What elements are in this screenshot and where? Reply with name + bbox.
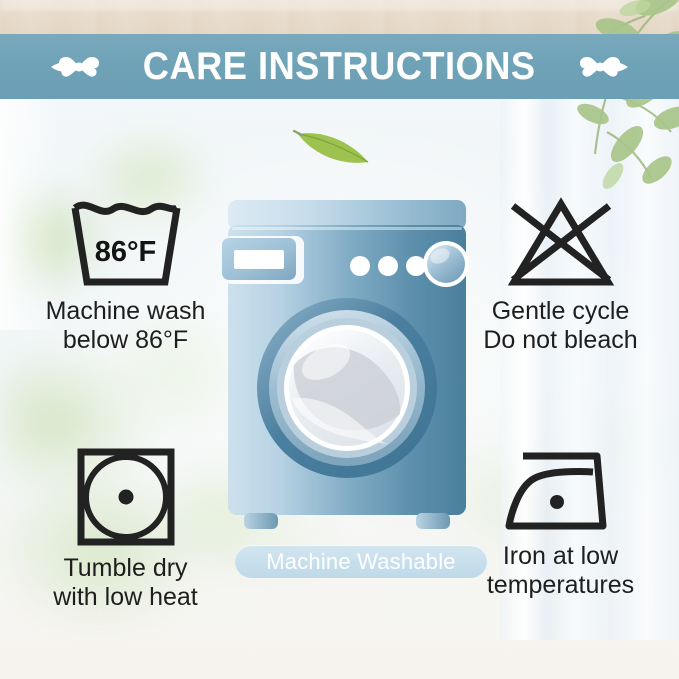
machine-feet (244, 513, 450, 529)
care-symbol-iron: Iron at low temperatures (448, 446, 673, 599)
badge-label: Machine Washable (266, 549, 455, 575)
machine-foot (416, 513, 450, 529)
care-symbol-caption: Gentle cycle Do not bleach (483, 297, 637, 354)
falling-leaf-icon (292, 118, 376, 168)
care-symbol-caption: Machine wash below 86°F (46, 297, 206, 354)
machine-foot (244, 513, 278, 529)
machine-washable-badge: Machine Washable (235, 545, 487, 578)
care-instructions-infographic: CARE INSTRUCTIONS 86°F Machine wash belo… (0, 0, 679, 679)
machine-control-dial (423, 241, 469, 287)
wash-temperature-value: 86°F (66, 236, 186, 269)
care-symbol-tumble-dry: Tumble dry with low heat (18, 446, 233, 611)
washing-machine-illustration (222, 198, 472, 543)
detergent-drawer (222, 236, 304, 284)
page-title: CARE INSTRUCTIONS (143, 45, 536, 89)
fleur-de-lis-left-icon (48, 47, 110, 87)
control-button (350, 256, 370, 276)
control-button (406, 256, 426, 276)
care-symbol-machine-wash: 86°F Machine wash below 86°F (18, 196, 233, 354)
machine-control-buttons (350, 256, 426, 276)
fleur-de-lis-right-icon (569, 47, 631, 87)
machine-door (257, 298, 437, 478)
care-symbol-caption: Tumble dry with low heat (53, 554, 198, 611)
care-symbol-do-not-bleach: Gentle cycle Do not bleach (448, 196, 673, 354)
care-symbol-caption: Iron at low temperatures (487, 542, 634, 599)
control-button (378, 256, 398, 276)
wash-tub-graphic: 86°F (66, 196, 186, 291)
iron-icon (501, 446, 621, 536)
header-banner: CARE INSTRUCTIONS (0, 34, 679, 99)
triangle-crossed-out-icon (506, 196, 616, 291)
tumble-dry-icon (75, 446, 177, 548)
